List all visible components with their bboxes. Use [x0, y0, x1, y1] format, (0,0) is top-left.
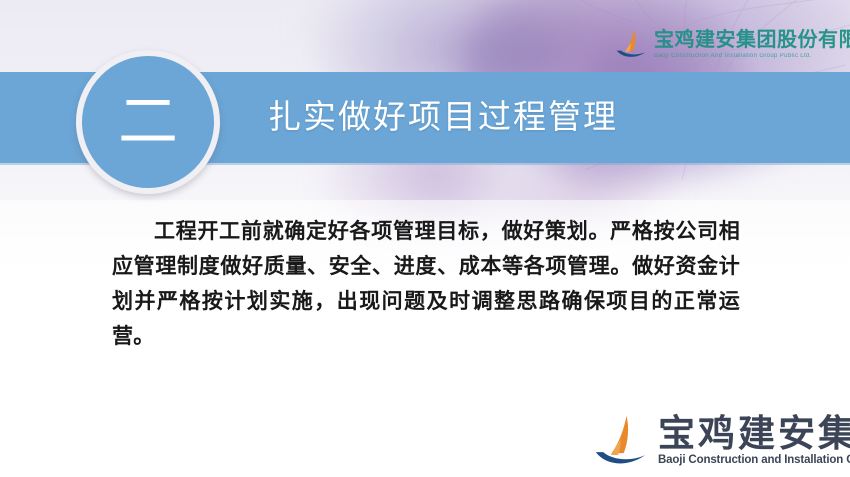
sailboat-logo-icon	[592, 414, 648, 468]
body-content: 工程开工前就确定好各项管理目标，做好策划。严格按公司相应管理制度做好质量、安全、…	[112, 214, 740, 354]
presentation-slide: 二 扎实做好项目过程管理 工程开工前就确定好各项管理目标，做好策划。严格按公司相…	[0, 0, 850, 477]
footer-company-name-en: Baoji Construction and Installation Grou…	[658, 455, 850, 467]
sailboat-logo-icon	[614, 28, 648, 60]
section-number-badge: 二	[76, 50, 220, 194]
footer-company-name-cn: 宝鸡建安集团	[658, 415, 850, 452]
footer-company-text: 宝鸡建安集团 Baoji Construction and Installati…	[658, 415, 850, 467]
header-company-text: 宝鸡建安集团股份有限公司 Baoji Construction And Inst…	[654, 29, 850, 59]
header-company-name-cn: 宝鸡建安集团股份有限公司	[654, 29, 850, 49]
section-title: 扎实做好项目过程管理	[268, 95, 618, 139]
section-number-label: 二	[118, 92, 178, 152]
body-paragraph: 工程开工前就确定好各项管理目标，做好策划。严格按公司相应管理制度做好质量、安全、…	[112, 214, 740, 354]
footer-company-logo: 宝鸡建安集团 Baoji Construction and Installati…	[592, 414, 850, 468]
header-company-logo: 宝鸡建安集团股份有限公司 Baoji Construction And Inst…	[614, 28, 850, 60]
header-company-name-en: Baoji Construction And Installation Grou…	[654, 53, 850, 59]
